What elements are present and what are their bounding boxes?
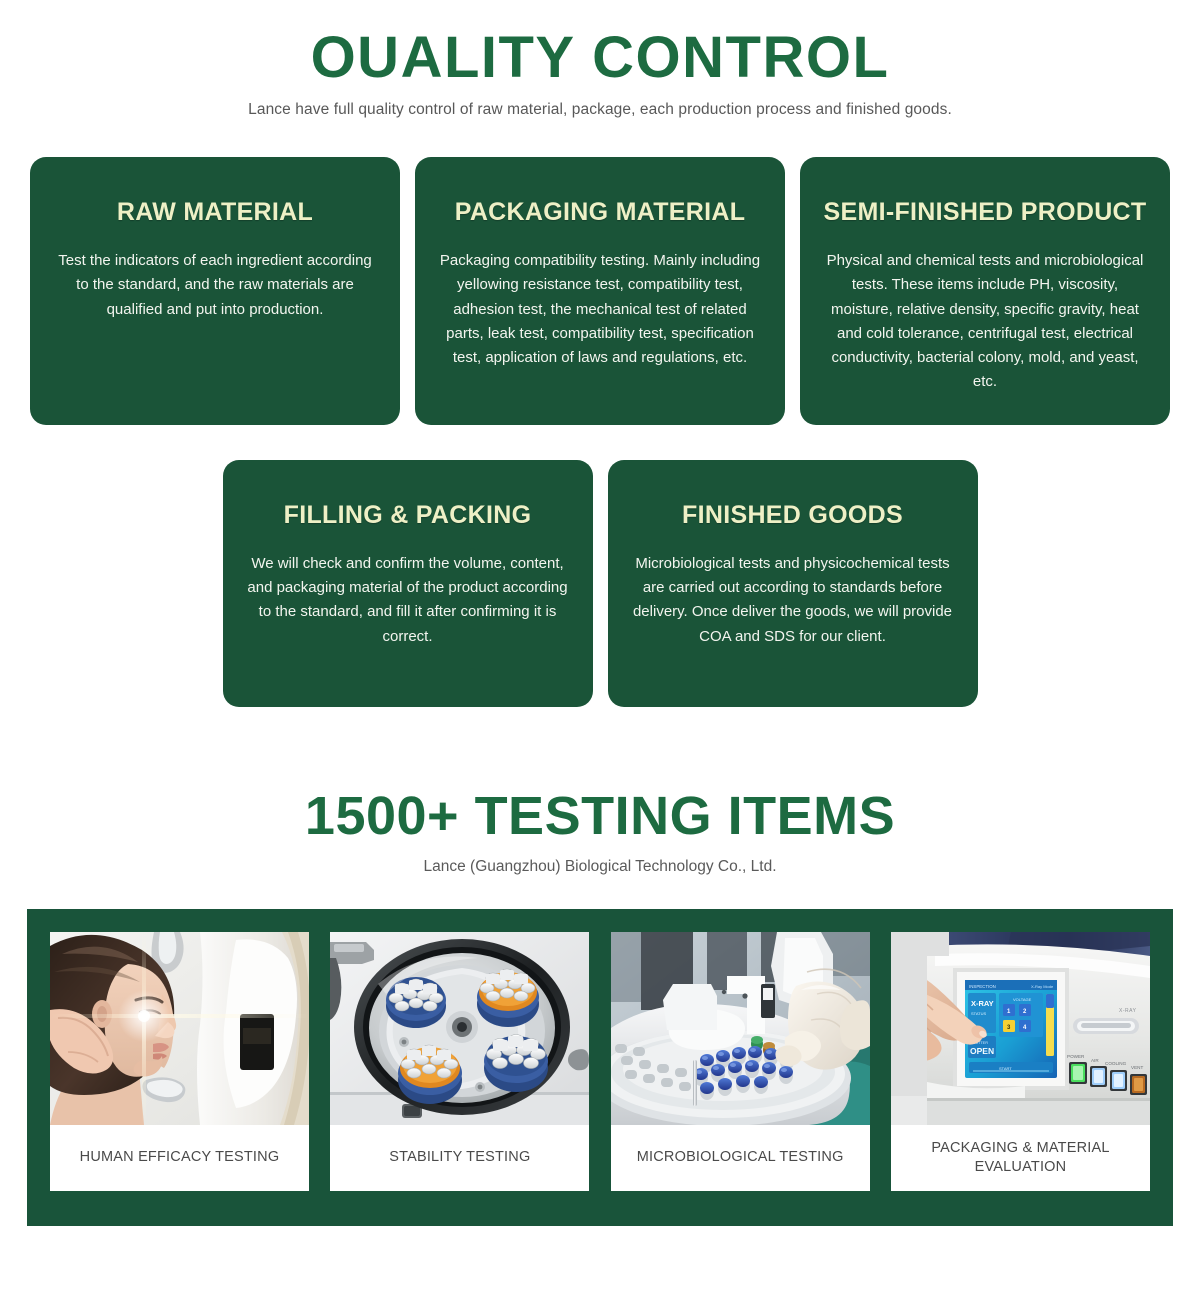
gallery-item-microbiological-testing[interactable]: MICROBIOLOGICAL TESTING xyxy=(611,932,870,1191)
qc-card-title: FINISHED GOODS xyxy=(630,500,956,530)
testing-gallery: HUMAN EFFICACY TESTING xyxy=(27,909,1173,1226)
qc-card-body: We will check and confirm the volume, co… xyxy=(245,552,571,649)
gallery-item-stability-testing[interactable]: STABILITY TESTING xyxy=(330,932,589,1191)
qc-cards-row-1: RAW MATERIAL Test the indicators of each… xyxy=(0,157,1200,425)
svg-text:COOLING: COOLING xyxy=(1105,1061,1127,1066)
gallery-caption: HUMAN EFFICACY TESTING xyxy=(50,1125,309,1191)
qc-card-title: PACKAGING MATERIAL xyxy=(437,197,763,227)
page-subtitle: Lance have full quality control of raw m… xyxy=(0,101,1200,119)
gallery-item-packaging-material-evaluation[interactable]: INSPECTION X-Ray Mode X-RAY STATUS SHUTT… xyxy=(891,932,1150,1191)
svg-text:AIR: AIR xyxy=(1091,1058,1099,1063)
qc-card-raw-material: RAW MATERIAL Test the indicators of each… xyxy=(30,157,400,425)
svg-text:POWER: POWER xyxy=(1067,1054,1085,1059)
qc-card-filling-and-packing: FILLING & PACKING We will check and conf… xyxy=(223,460,593,707)
qc-card-finished-goods: FINISHED GOODS Microbiological tests and… xyxy=(608,460,978,707)
svg-text:VOLTAGE: VOLTAGE xyxy=(1013,997,1032,1002)
laboratory-centrifuge-photo xyxy=(330,932,589,1125)
gallery-caption: STABILITY TESTING xyxy=(330,1125,589,1191)
svg-text:X-RAY: X-RAY xyxy=(1119,1008,1137,1014)
testing-items-header: 1500+ TESTING ITEMS Lance (Guangzhou) Bi… xyxy=(0,785,1200,876)
qc-card-title: RAW MATERIAL xyxy=(52,197,378,227)
qc-card-body: Test the indicators of each ingredient a… xyxy=(52,249,378,322)
gallery-item-human-efficacy-testing[interactable]: HUMAN EFFICACY TESTING xyxy=(50,932,309,1191)
qc-cards-row-2: FILLING & PACKING We will check and conf… xyxy=(0,460,1200,707)
xray-inspection-touchscreen-photo: INSPECTION X-Ray Mode X-RAY STATUS SHUTT… xyxy=(891,932,1150,1125)
svg-text:INSPECTION: INSPECTION xyxy=(969,984,996,989)
svg-text:START: START xyxy=(999,1066,1012,1071)
skin-analysis-machine-photo xyxy=(50,932,309,1125)
qc-card-title: FILLING & PACKING xyxy=(245,500,571,530)
qc-card-body: Packaging compatibility testing. Mainly … xyxy=(437,249,763,370)
svg-text:OPEN: OPEN xyxy=(970,1046,994,1056)
svg-text:X-Ray Mode: X-Ray Mode xyxy=(1031,984,1054,989)
svg-text:VENT: VENT xyxy=(1131,1065,1143,1070)
page-title: OUALITY CONTROL xyxy=(0,26,1200,91)
autosampler-vials-gloved-hand-photo xyxy=(611,932,870,1125)
page-header: OUALITY CONTROL Lance have full quality … xyxy=(0,0,1200,119)
gallery-caption: MICROBIOLOGICAL TESTING xyxy=(611,1125,870,1191)
qc-card-body: Microbiological tests and physicochemica… xyxy=(630,552,956,649)
svg-text:STATUS: STATUS xyxy=(971,1011,987,1016)
testing-items-title: 1500+ TESTING ITEMS xyxy=(0,785,1200,847)
qc-card-packaging-material: PACKAGING MATERIAL Packaging compatibili… xyxy=(415,157,785,425)
qc-card-title: SEMI-FINISHED PRODUCT xyxy=(822,197,1148,227)
quality-control-page: OUALITY CONTROL Lance have full quality … xyxy=(0,0,1200,1308)
svg-text:X-RAY: X-RAY xyxy=(971,999,994,1008)
gallery-caption: PACKAGING & MATERIAL EVALUATION xyxy=(891,1125,1150,1191)
company-name: Lance (Guangzhou) Biological Technology … xyxy=(0,858,1200,876)
qc-card-body: Physical and chemical tests and microbio… xyxy=(822,249,1148,395)
qc-card-semi-finished-product: SEMI-FINISHED PRODUCT Physical and chemi… xyxy=(800,157,1170,425)
